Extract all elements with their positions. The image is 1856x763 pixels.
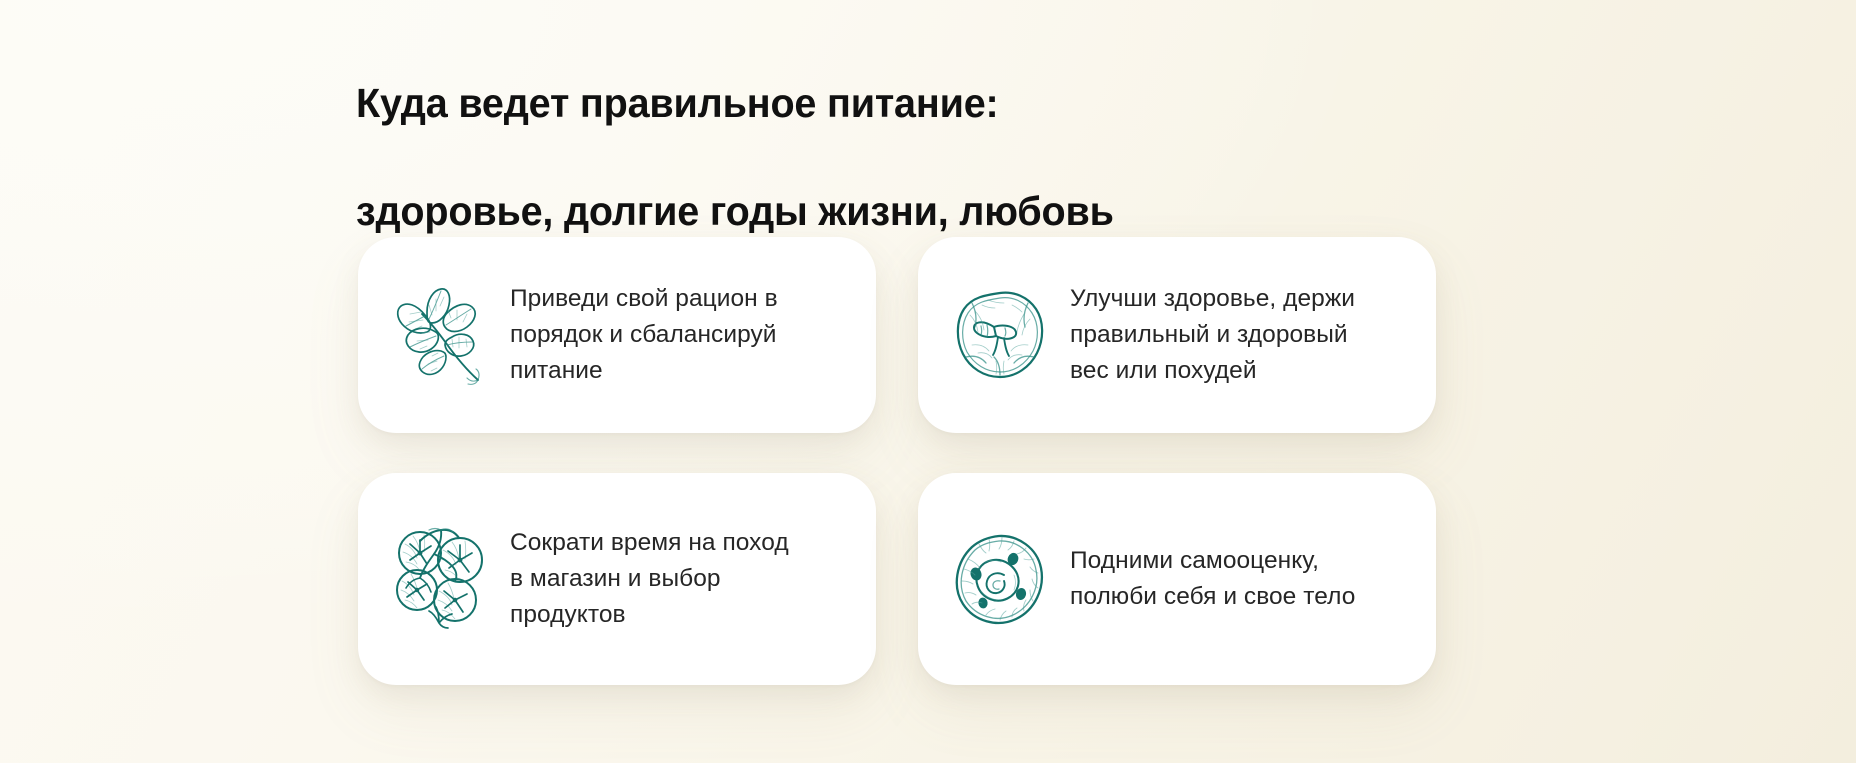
benefit-card-row-2: Сократи время на поход в магазин и выбор… [358, 473, 1436, 685]
benefit-card-grid: Приведи свой рацион в порядок и сбаланси… [358, 237, 1436, 685]
benefit-card-text: Подними самооценку, полюби себя и свое т… [1070, 543, 1398, 615]
benefit-card-row-1: Приведи свой рацион в порядок и сбаланси… [358, 237, 1436, 433]
benefit-card-text: Сократи время на поход в магазин и выбор… [510, 525, 838, 633]
benefit-card-self-esteem[interactable]: Подними самооценку, полюби себя и свое т… [918, 473, 1436, 685]
promo-banner: Куда ведет правильное питание: здоровье,… [0, 0, 1856, 763]
page-title-line-1: Куда ведет правильное питание: [356, 76, 1302, 130]
olive-slice-icon [952, 527, 1048, 631]
benefit-card-text: Приведи свой рацион в порядок и сбаланси… [510, 281, 838, 389]
page-title-line-2: здоровье, долгие годы жизни, любовь [356, 184, 1302, 238]
bell-pepper-icon [952, 283, 1048, 387]
benefit-card-shopping-time[interactable]: Сократи время на поход в магазин и выбор… [358, 473, 876, 685]
benefit-card-nutrition[interactable]: Приведи свой рацион в порядок и сбаланси… [358, 237, 876, 433]
benefit-card-health-weight[interactable]: Улучши здоровье, держи правильный и здор… [918, 237, 1436, 433]
herb-leaf-icon [392, 283, 488, 387]
benefit-card-text: Улучши здоровье, держи правильный и здор… [1070, 281, 1398, 389]
cherry-tomatoes-icon [392, 527, 488, 631]
